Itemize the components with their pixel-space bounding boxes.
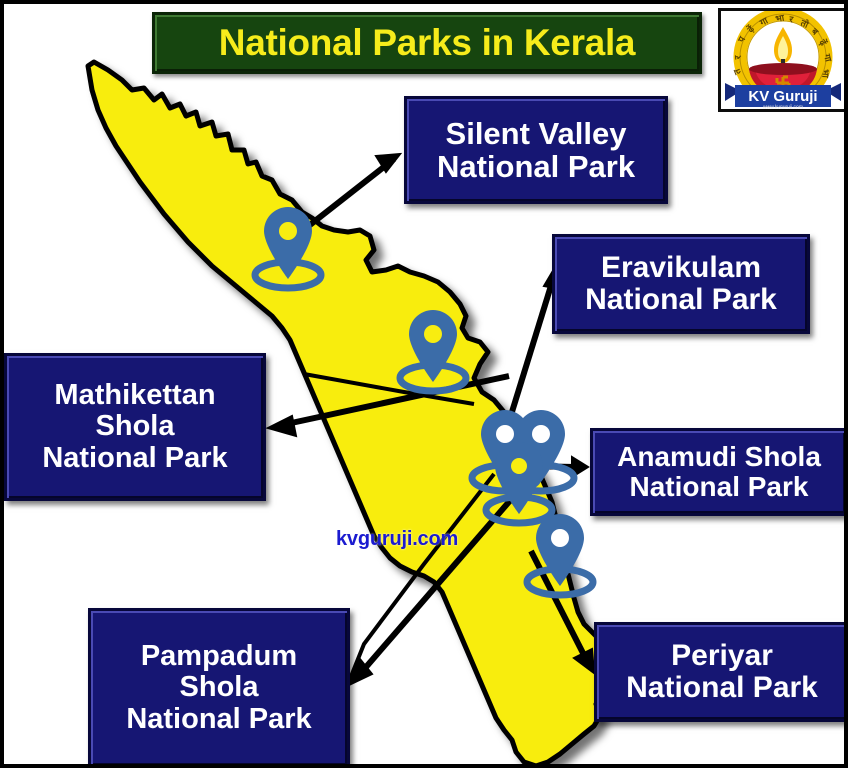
label-line: Anamudi Shola (617, 442, 821, 472)
label-line: National Park (630, 472, 809, 502)
label-line: National Park (126, 704, 311, 735)
page-title-text: National Parks in Kerala (219, 22, 635, 64)
map-internal-line-2 (344, 474, 494, 694)
label-pampadum-shola[interactable]: PampadumSholaNational Park (88, 608, 350, 768)
marker-anamudi-shola (472, 410, 538, 491)
arrow-periyar (531, 551, 594, 673)
label-line: National Park (585, 284, 777, 316)
marker-periyar (527, 514, 593, 595)
marker-pampadum-shola (486, 442, 552, 523)
marker-mathikettan-shola (508, 410, 574, 491)
label-line: Mathikettan (54, 380, 215, 411)
label-line: Pampadum (141, 641, 297, 672)
page-title: National Parks in Kerala (152, 12, 702, 74)
arrow-anamudi (520, 457, 588, 477)
label-periyar[interactable]: PeriyarNational Park (594, 622, 848, 722)
label-silent-valley[interactable]: Silent ValleyNational Park (404, 96, 668, 204)
watermark: kvguruji.com (336, 528, 458, 551)
svg-text:भा: भा (819, 69, 830, 79)
logo-brand-text: KV Guruji (748, 88, 817, 105)
marker-silent-valley (255, 207, 321, 288)
arrow-silent-valley (306, 154, 400, 228)
logo-website-text: www.kvguruji.com (763, 105, 803, 110)
label-line: National Park (626, 672, 818, 704)
infographic-canvas: kvguruji.com National Parks in Kerala प … (0, 0, 848, 768)
label-line: Silent Valley (446, 117, 627, 150)
label-line: National Park (42, 443, 227, 474)
kv-guruji-logo-icon: प ढ़ें गा भा र तो ब ढ़ें गा भा र त (721, 11, 845, 109)
label-line: Shola (180, 672, 259, 703)
map-internal-line (304, 374, 474, 404)
label-line: National Park (437, 150, 635, 183)
label-mathikettan-shola[interactable]: MathikettanSholaNational Park (4, 353, 266, 501)
label-line: Shola (96, 411, 175, 442)
label-anamudi-shola[interactable]: Anamudi SholaNational Park (590, 428, 848, 516)
label-line: Periyar (671, 640, 773, 672)
arrow-mathikettan (268, 376, 509, 436)
marker-eravikulam (400, 310, 466, 391)
arrow-pampadum (349, 496, 514, 685)
logo[interactable]: प ढ़ें गा भा र तो ब ढ़ें गा भा र त (718, 8, 848, 112)
label-line: Eravikulam (601, 252, 761, 284)
label-eravikulam[interactable]: EravikulamNational Park (552, 234, 810, 334)
